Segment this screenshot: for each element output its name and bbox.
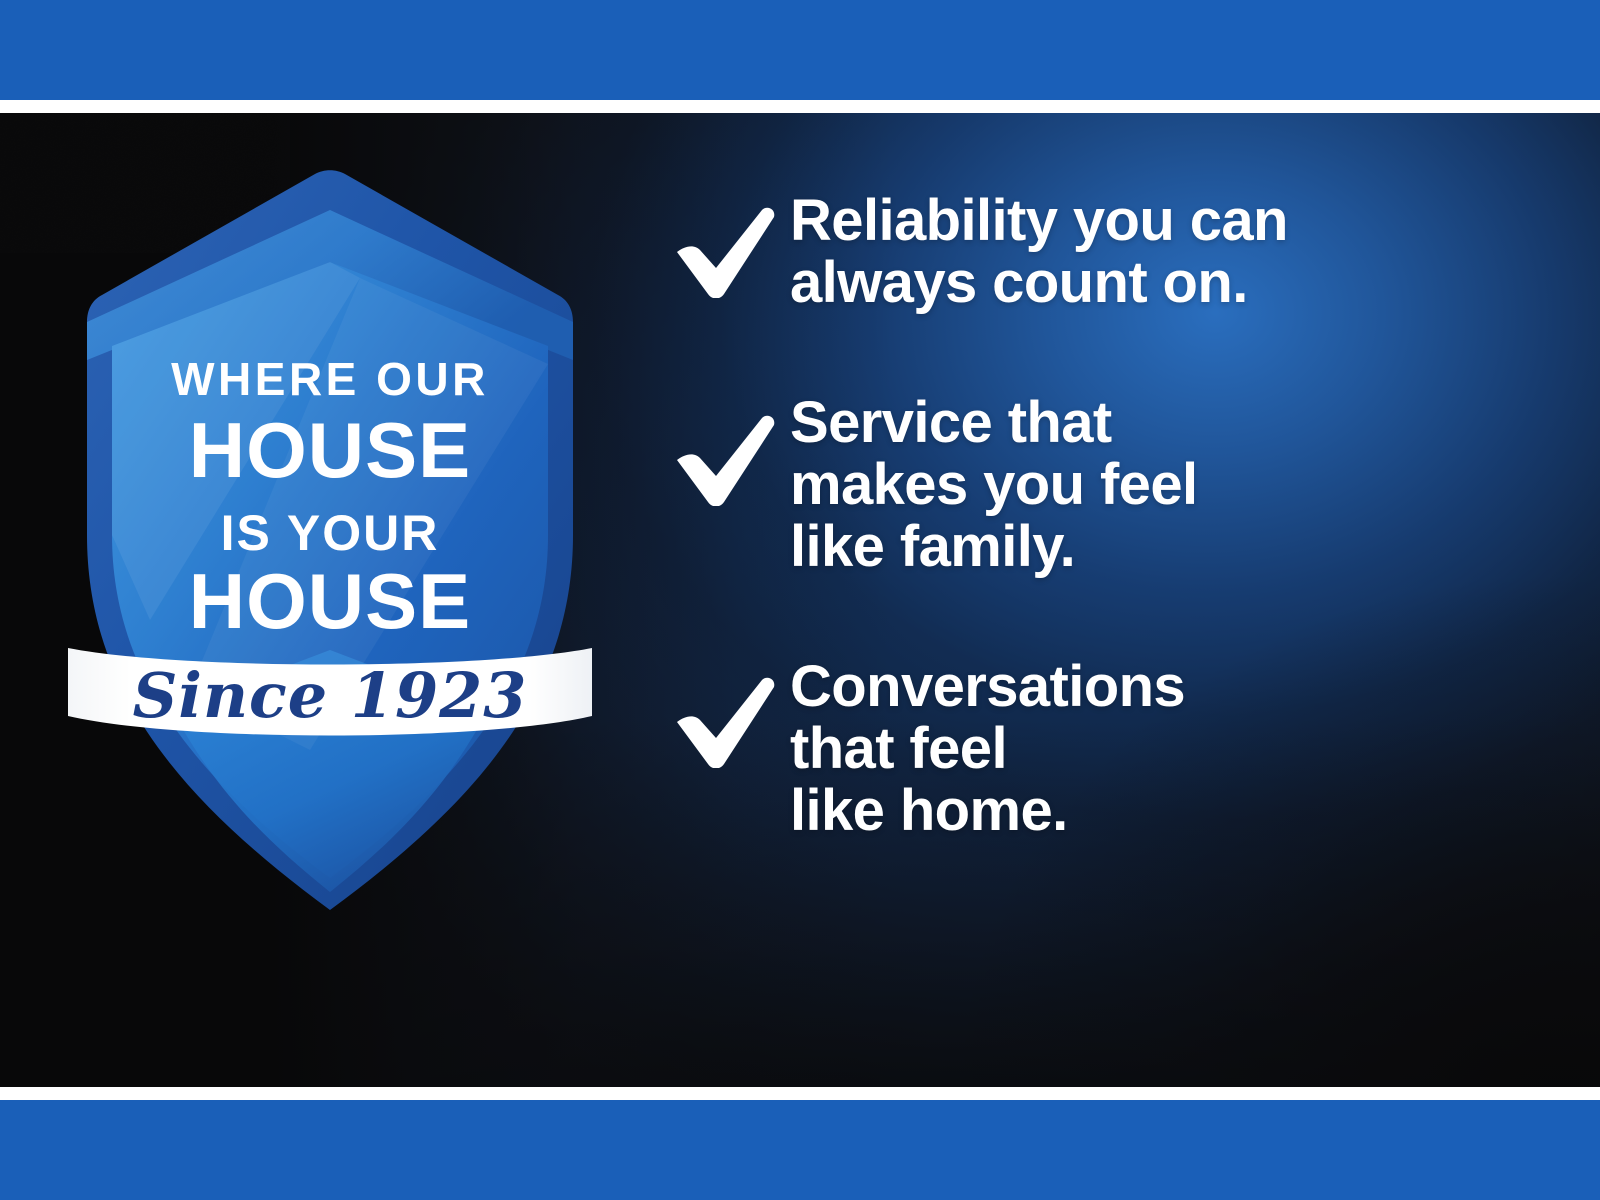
shield-line-1: WHERE OUR — [171, 353, 489, 405]
ribbon-text: Since 1923 — [133, 659, 528, 732]
promo-graphic: WHERE OUR HOUSE IS YOUR HOUSE Since 1923… — [0, 0, 1600, 1200]
brand-bar-top — [0, 0, 1600, 100]
shield-logo: WHERE OUR HOUSE IS YOUR HOUSE Since 1923 — [60, 150, 600, 940]
benefit-item-3: Conversations that feel like home. — [672, 656, 1572, 842]
checkmark-icon — [672, 190, 790, 298]
benefit-item-2: Service that makes you feel like family. — [672, 392, 1572, 578]
shield-line-2: HOUSE — [189, 406, 471, 494]
shield-line-3: IS YOUR — [221, 505, 440, 561]
benefit-text-1: Reliability you can always count on. — [790, 190, 1288, 314]
benefit-text-2: Service that makes you feel like family. — [790, 392, 1197, 578]
benefit-text-3: Conversations that feel like home. — [790, 656, 1185, 842]
benefit-item-1: Reliability you can always count on. — [672, 190, 1572, 314]
shield-line-4: HOUSE — [189, 557, 471, 645]
checkmark-icon — [672, 656, 790, 768]
checkmark-icon — [672, 392, 790, 506]
benefit-list: Reliability you can always count on. Ser… — [672, 190, 1572, 842]
brand-bar-bottom — [0, 1100, 1600, 1200]
